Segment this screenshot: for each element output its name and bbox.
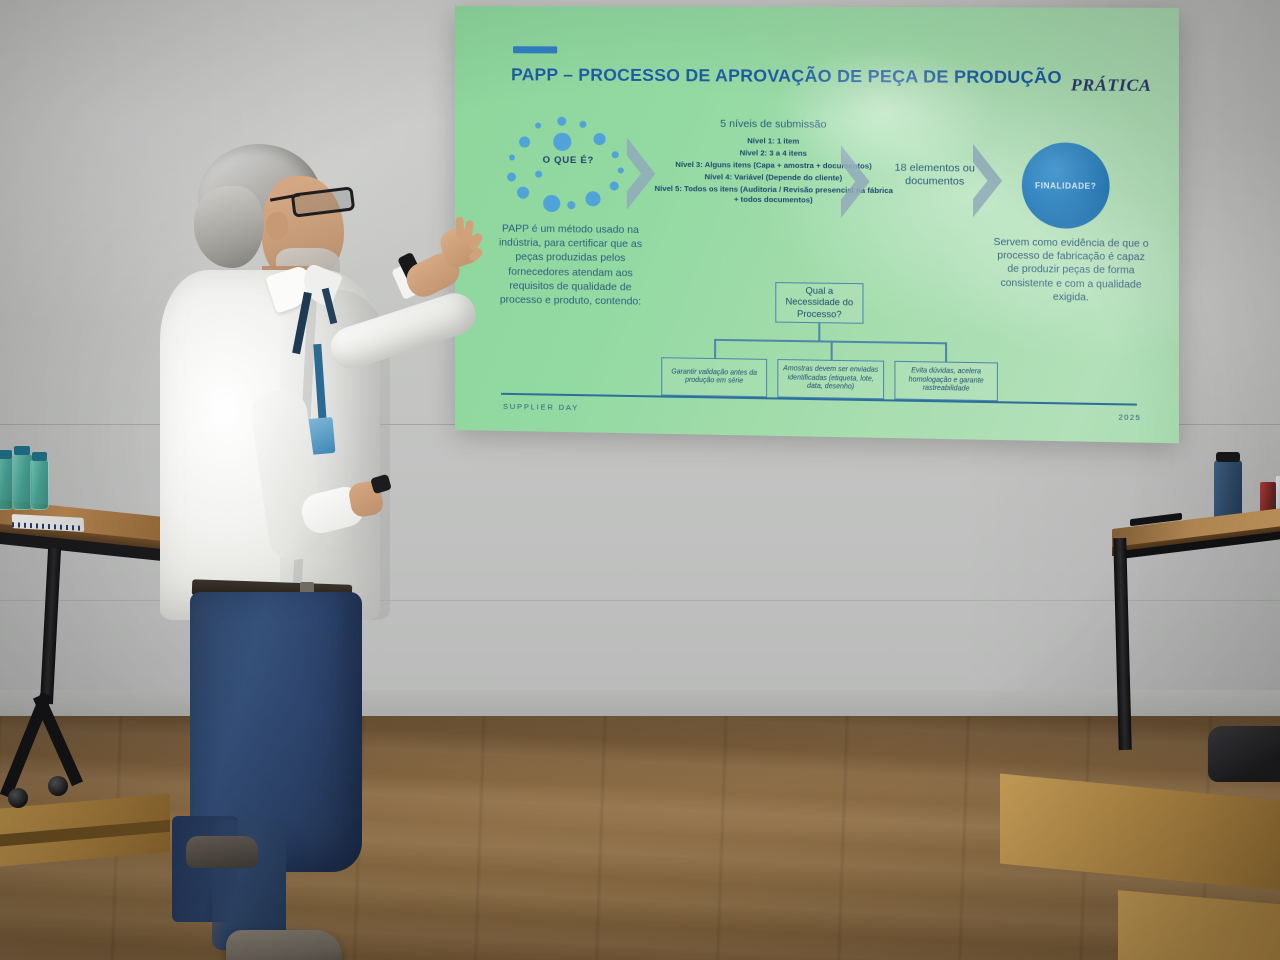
slide-canvas: PAPP – PROCESSO DE APROVAÇÃO DE PEÇA DE … [455,6,1179,443]
what-is-it-heading: O QUE É? [505,154,632,166]
slide-title: PAPP – PROCESSO DE APROVAÇÃO DE PEÇA DE … [511,64,1084,88]
left-table-leg [33,694,83,787]
process-need-diagram: Qual a Necessidade do Processo? Garantir… [651,280,1010,397]
diagram-connector [831,341,833,360]
finalidade-circle: FINALIDADE? [1022,142,1110,229]
what-is-it-body: PAPP é um método usado na indústria, par… [487,222,654,310]
water-bottle [30,460,49,510]
projection-screen: PAPP – PROCESSO DE APROVAÇÃO DE PEÇA DE … [455,6,1179,443]
water-bottle-cap [32,452,47,461]
left-table-leg [40,548,61,704]
purpose-body: Servem como evidência de que o processo … [993,236,1150,305]
presenter-front-shoe [226,930,342,960]
presenter-person [150,130,510,890]
bag-on-floor [1208,726,1280,782]
caster-wheel [8,788,28,808]
footer-year: 2025 [1119,412,1142,422]
presenter-hair-back [194,186,264,268]
presentation-room-scene: PAPP – PROCESSO DE APROVAÇÃO DE PEÇA DE … [0,0,1280,960]
pratica-logo: PRÁTICA [1071,75,1152,96]
presenter-ear [266,212,288,240]
diagram-connector [818,323,820,341]
diagram-leaf-node: Amostras devem ser enviadas identificada… [777,359,884,399]
diagram-leaf-node: Garantir validação antes da produção em … [661,357,767,397]
diagram-connector [714,339,716,358]
right-table-leg [1113,538,1132,750]
diagram-leaf-node: Evita dúvidas, acelera homologação e gar… [894,361,998,401]
caster-wheel [48,776,68,796]
diagram-root-node: Qual a Necessidade do Processo? [775,282,863,324]
diagram-connector [945,342,947,361]
thermos-cap [1216,452,1240,462]
presenter-back-shoe [186,836,258,868]
footer-event-name: SUPPLIER DAY [503,402,579,412]
finalidade-label: FINALIDADE? [1035,181,1096,191]
levels-heading: 5 níveis de submissão [656,117,891,131]
slide-accent-bar [513,46,557,53]
water-bottle-cap [14,446,30,455]
water-bottle-cap [0,450,12,459]
